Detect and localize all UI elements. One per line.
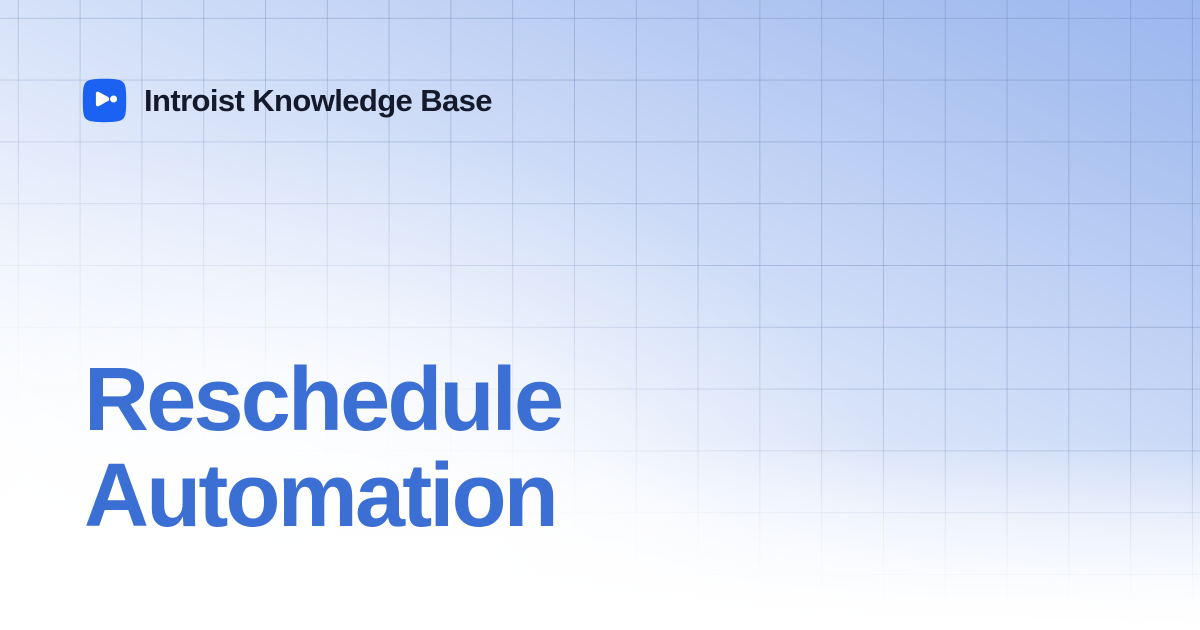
page-title-line-1: Reschedule bbox=[84, 352, 561, 448]
page-title: Reschedule Automation bbox=[84, 352, 561, 544]
card-content: Introist Knowledge Base Reschedule Autom… bbox=[0, 0, 1200, 630]
brand-lockup: Introist Knowledge Base bbox=[82, 78, 492, 123]
og-card: Introist Knowledge Base Reschedule Autom… bbox=[0, 0, 1200, 630]
page-title-line-2: Automation bbox=[84, 448, 561, 544]
introist-play-dot-logo-icon bbox=[82, 78, 127, 123]
brand-name: Introist Knowledge Base bbox=[144, 85, 492, 116]
